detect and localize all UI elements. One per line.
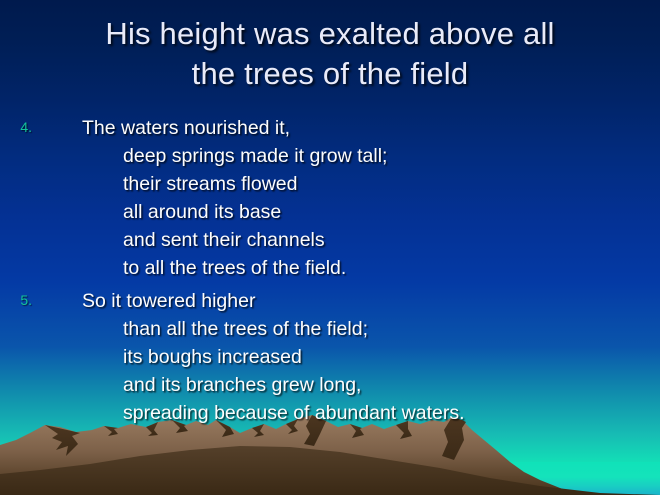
- list-item-line: and sent their channels: [34, 226, 660, 254]
- list-item: 5. So it towered higher than all the tre…: [0, 287, 660, 427]
- list-item-line: spreading because of abundant waters.: [34, 399, 660, 427]
- list-item-line: So it towered higher: [34, 287, 660, 315]
- list-item-line: and its branches grew long,: [34, 371, 660, 399]
- list-item-line: its boughs increased: [34, 343, 660, 371]
- list-item-line: than all the trees of the field;: [34, 315, 660, 343]
- slide-title: His height was exalted above all the tre…: [0, 14, 660, 94]
- slide-canvas: His height was exalted above all the tre…: [0, 0, 660, 495]
- list-item: 4. The waters nourished it, deep springs…: [0, 114, 660, 282]
- list-item-line: all around its base: [34, 198, 660, 226]
- list-item-line: deep springs made it grow tall;: [34, 142, 660, 170]
- list-item-line: to all the trees of the field.: [34, 254, 660, 282]
- list-item-line: The waters nourished it,: [34, 114, 660, 142]
- list-item-line: their streams flowed: [34, 170, 660, 198]
- slide-body-list: 4. The waters nourished it, deep springs…: [0, 114, 660, 427]
- list-item-number: 5.: [12, 292, 32, 308]
- list-item-number: 4.: [12, 119, 32, 135]
